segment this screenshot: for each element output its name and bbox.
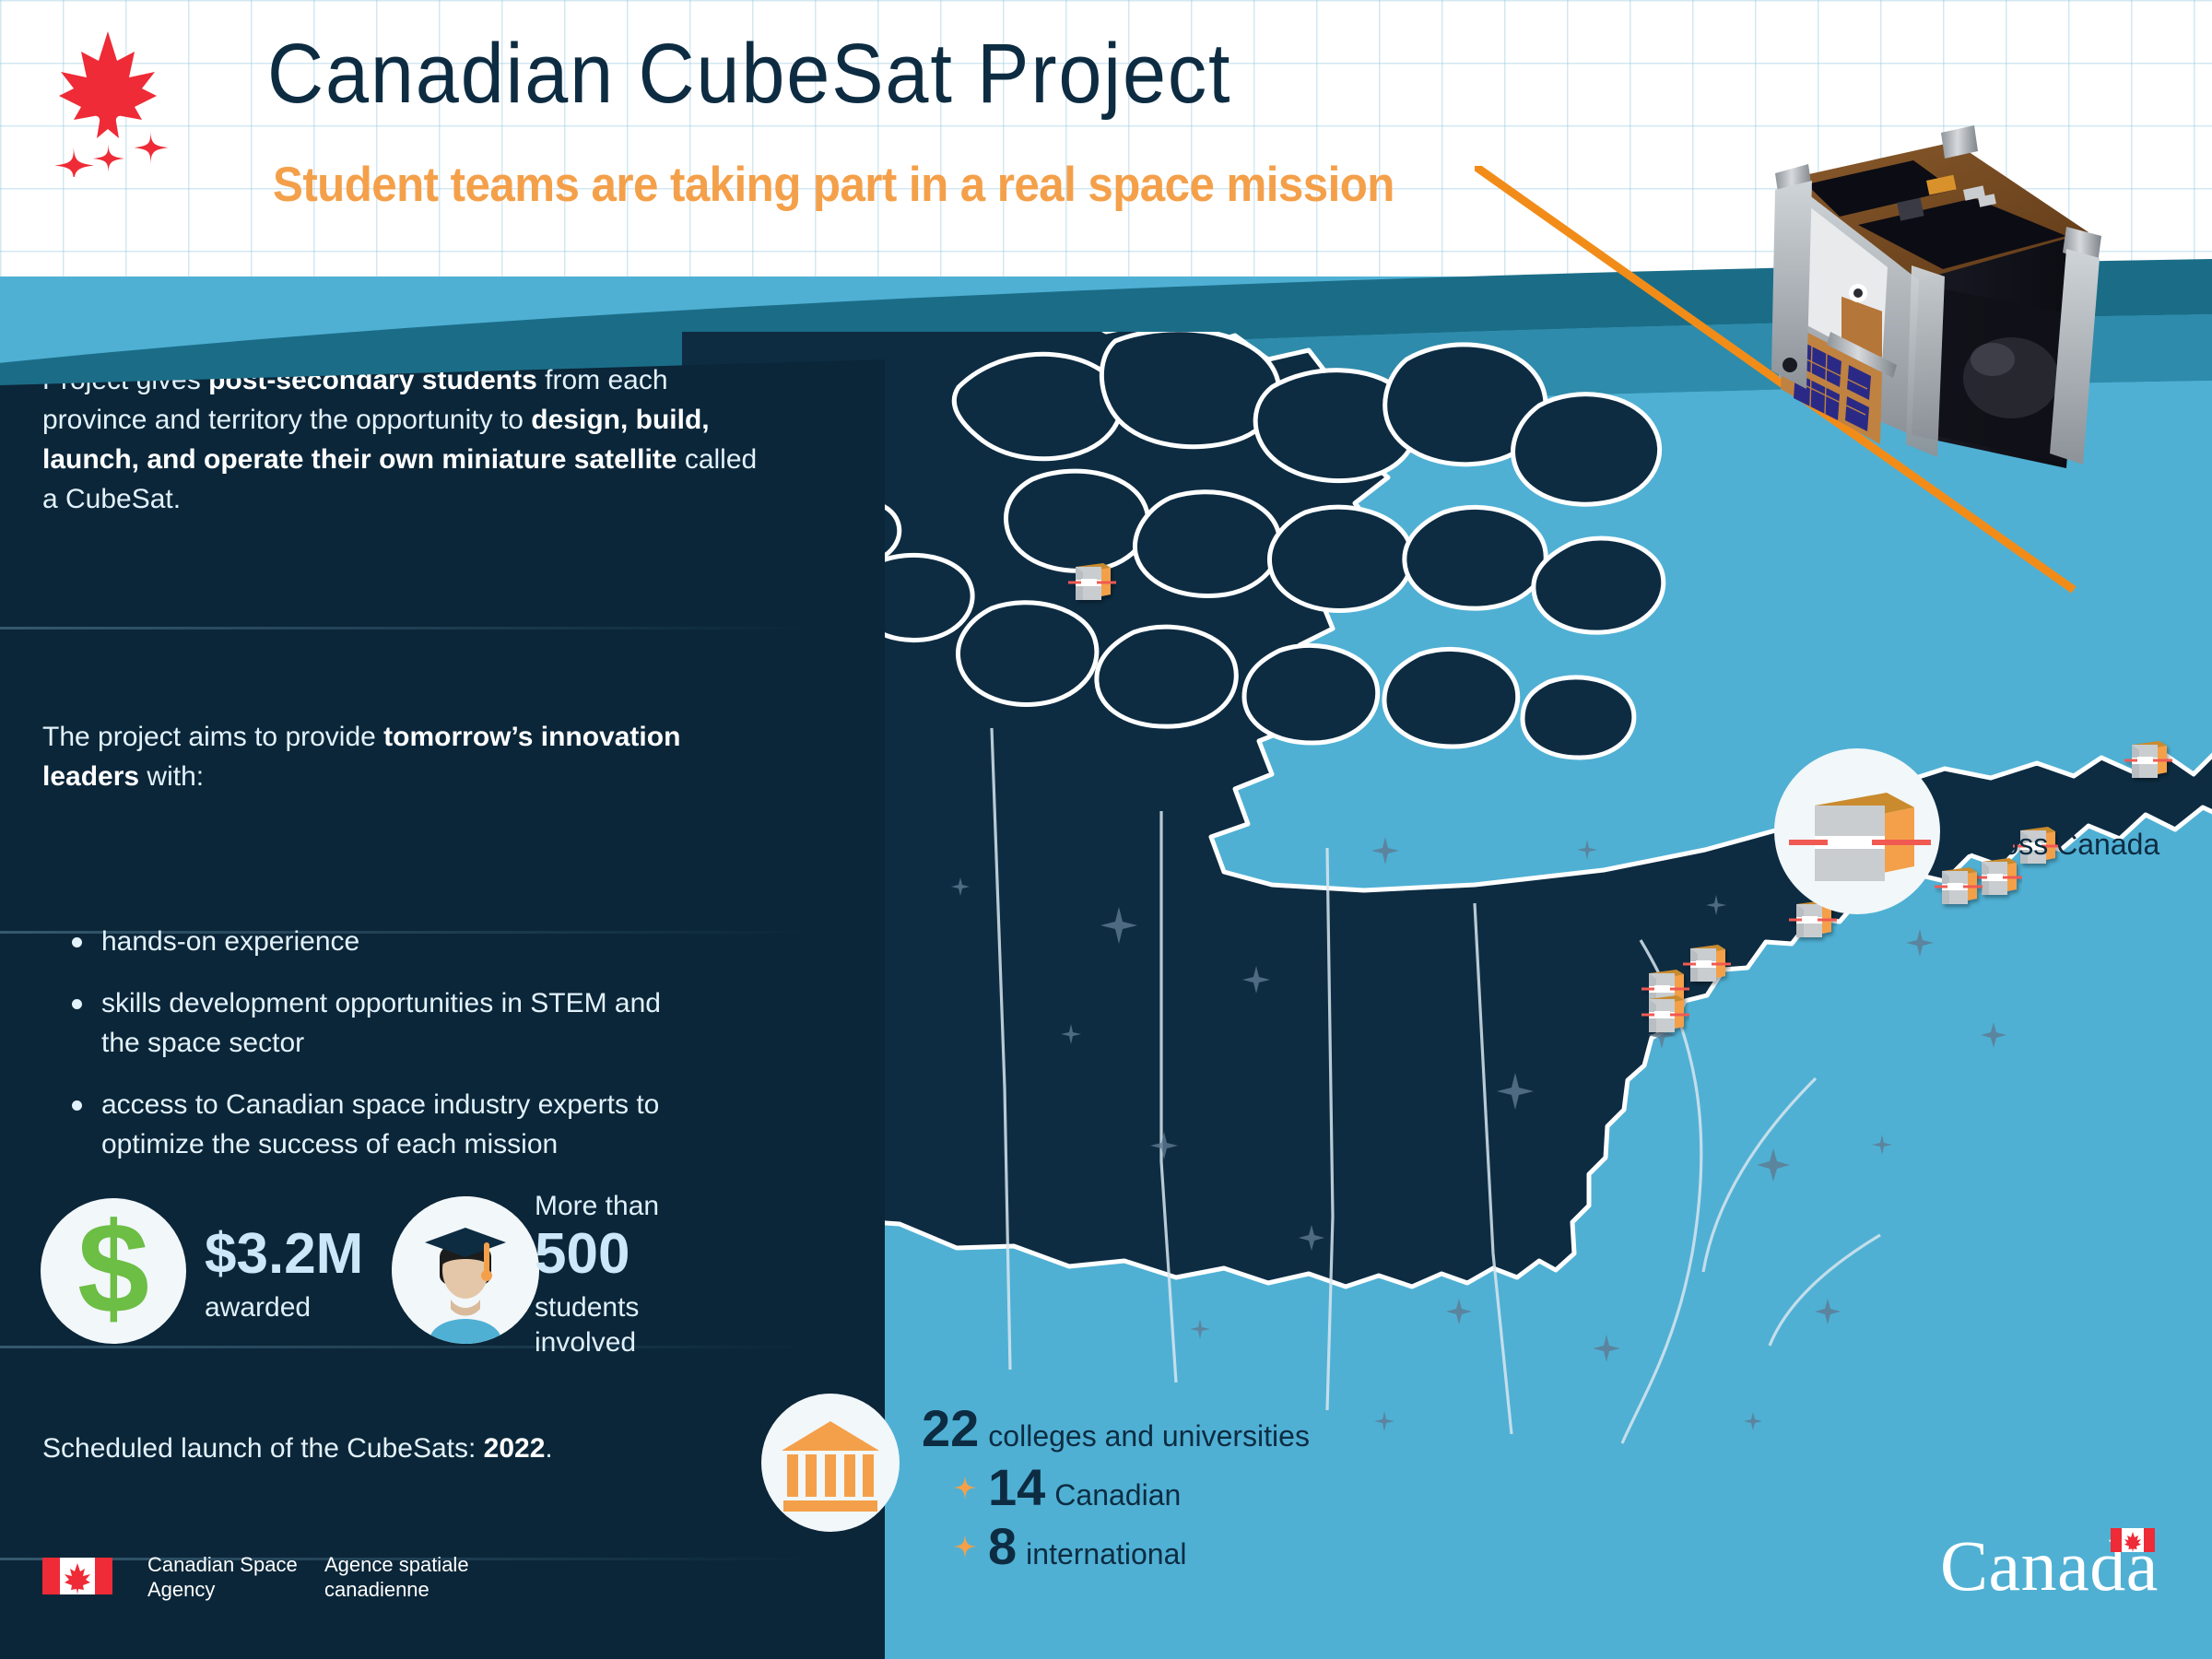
csa-en-line-2: Agency — [147, 1577, 298, 1602]
international-count: 8 — [988, 1521, 1017, 1572]
csa-agency-name-en: Canadian Space Agency — [147, 1552, 298, 1602]
pin-newbrunswick[interactable] — [1935, 862, 1983, 912]
institutions-callout-text: 22 colleges and universities 14 Canadian… — [922, 1403, 1310, 1572]
canada-wordmark: Canada — [1940, 1530, 2159, 1602]
pin-ontario-1[interactable] — [1683, 939, 1731, 989]
projects-label-2: across Canada — [1961, 828, 2159, 862]
sparkle-icon — [951, 1474, 979, 1501]
dollar-sign-icon: $ — [41, 1198, 186, 1344]
student-stat-label-2: involved — [535, 1325, 700, 1360]
dollar-stat-value: $3.2M — [205, 1226, 363, 1283]
panel-divider-1 — [0, 627, 811, 629]
sparkle-icon — [951, 1533, 979, 1560]
aims-before: The project aims to provide — [42, 722, 383, 752]
institutions-label: colleges and universities — [988, 1419, 1310, 1453]
graduate-student-icon — [392, 1196, 539, 1344]
aims-after: with: — [139, 761, 204, 792]
projects-callout-circle — [1774, 748, 1940, 914]
dollar-stat-circle: $ — [41, 1198, 186, 1344]
international-label: international — [1026, 1537, 1186, 1571]
canada-flag-icon — [42, 1558, 112, 1594]
institutions-count: 22 — [922, 1403, 979, 1454]
institutions-total-row: 22 colleges and universities — [922, 1403, 1310, 1454]
student-stat-circle — [392, 1196, 539, 1344]
csa-agency-name-fr: Agence spatiale canadienne — [324, 1552, 469, 1602]
benefits-list: hands-on experience skills development o… — [61, 922, 706, 1186]
canadian-label: Canadian — [1054, 1478, 1181, 1512]
institutions-breakdown-row: 14 Canadian — [951, 1462, 1310, 1513]
csa-fr-line-2: canadienne — [324, 1577, 469, 1602]
pin-nunavut[interactable] — [1068, 558, 1116, 607]
dollar-stat-label: awarded — [205, 1290, 363, 1325]
launch-year: 2022 — [484, 1433, 546, 1464]
student-stat-label-1: students — [535, 1290, 700, 1325]
list-item: access to Canadian space industry expert… — [61, 1085, 706, 1164]
svg-text:$: $ — [77, 1198, 149, 1340]
csa-en-line-1: Canadian Space — [147, 1552, 298, 1577]
student-stat-prefix: More than — [535, 1189, 700, 1224]
dollar-stat-text: $3.2M awarded — [205, 1226, 363, 1325]
infographic-canvas: Canadian CubeSat Project Student teams a… — [0, 0, 2212, 1659]
student-stat-text: More than 500 students involved — [535, 1189, 700, 1360]
pin-ontario-3[interactable] — [1641, 990, 1689, 1040]
projects-label-1: projects — [2030, 789, 2133, 823]
page-title-text: Canadian CubeSat Project — [267, 27, 1231, 121]
projects-count: 15 — [1961, 772, 2018, 824]
canada-flag-icon — [2111, 1528, 2155, 1552]
canadian-count: 14 — [988, 1462, 1045, 1513]
launch-period: . — [545, 1433, 552, 1464]
canada-map — [682, 332, 2212, 1622]
cubesat-cube-icon — [1774, 748, 1940, 914]
launch-schedule: Scheduled launch of the CubeSats: 2022. — [42, 1433, 553, 1465]
launch-text: Scheduled launch of the CubeSats: — [42, 1433, 484, 1464]
list-item: skills development opportunities in STEM… — [61, 983, 706, 1063]
csa-maple-leaf-logo — [39, 20, 177, 177]
csa-fr-line-1: Agence spatiale — [324, 1552, 469, 1577]
projects-callout-text: 15 projects across Canada — [1961, 772, 2159, 862]
institutions-callout-circle — [761, 1394, 900, 1532]
list-item: hands-on experience — [61, 922, 706, 961]
university-building-icon — [761, 1394, 900, 1532]
page-subtitle: Student teams are taking part in a real … — [273, 157, 1394, 213]
institutions-breakdown-row: 8 international — [951, 1521, 1310, 1572]
student-stat-value: 500 — [535, 1226, 700, 1283]
page-title: Canadian CubeSat Project — [267, 26, 1231, 123]
aims-paragraph: The project aims to provide tomorrow’s i… — [42, 717, 688, 796]
